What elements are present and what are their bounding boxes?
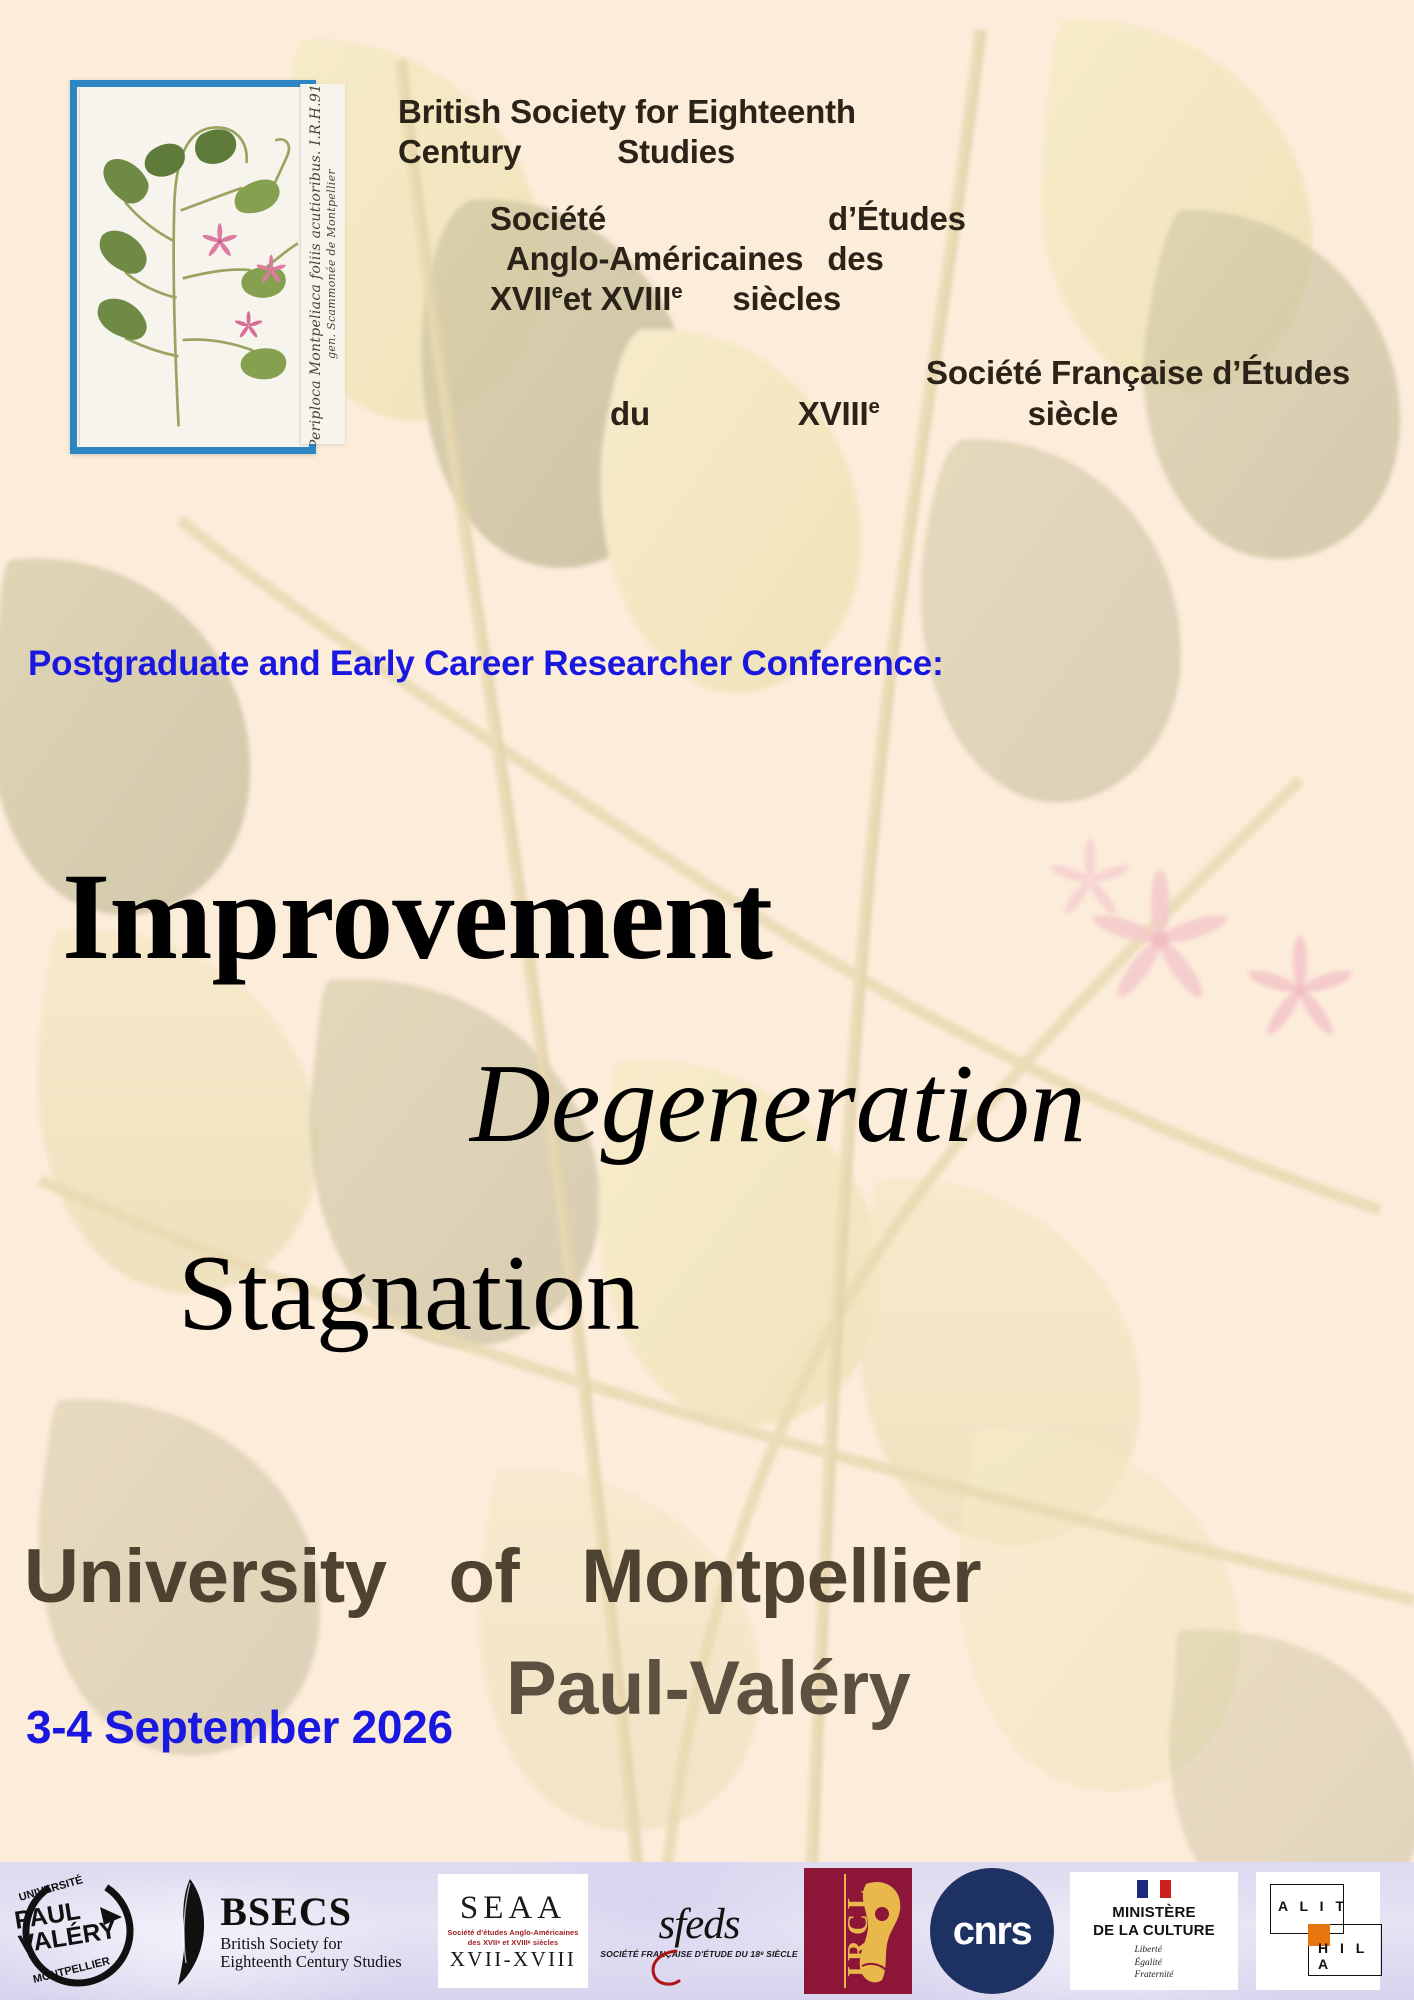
seaa-siecles: siècles [732, 279, 841, 319]
spacer-2 [398, 319, 1358, 353]
ministere-line2: DE LA CULTURE [1093, 1922, 1215, 1940]
sponsoring-societies: British Society for Eighteenth Century S… [398, 92, 1358, 434]
venue-line-2: Paul-Valéry [506, 1645, 910, 1732]
seaa-societe: Société [490, 199, 606, 239]
sfeds-swash-icon [646, 1949, 686, 1989]
sfeds-logo-word: sfeds [659, 1903, 740, 1946]
seaa-logo-red1: Société d'études Anglo-Américaines [448, 1928, 579, 1938]
sfeds-name-line1: Société Française d’Études [398, 353, 1358, 393]
venue-montpellier: Montpellier [581, 1533, 981, 1620]
seaa-anglo-americaines: Anglo-Américaines [506, 239, 803, 279]
seaa-logo-roman: XVII-XVIII [450, 1949, 577, 1970]
conference-poster: Periploca Montpeliaca foliis acutioribus… [0, 0, 1414, 2000]
ministere-devise-fraternite: Fraternité [1134, 1969, 1173, 1982]
seaa-name-line1: Société d’Études [398, 199, 1358, 239]
french-flag-icon [1137, 1880, 1171, 1898]
bsecs-logo-acronym: BSECS [220, 1890, 401, 1935]
sfeds-logo-tagline: SOCIÉTÉ FRANÇAISE D'ÉTUDE DU 18ᵉ SIÈCLE [600, 1949, 798, 1959]
conference-dates: 3-4 September 2026 [26, 1700, 453, 1754]
alit-logo-bottom: H I L A [1318, 1940, 1380, 1972]
spacer-1 [398, 173, 1358, 199]
logo-cnrs[interactable]: cnrs [930, 1868, 1054, 1994]
sfeds-siecle: siècle [1028, 394, 1119, 434]
seaa-xvii-ordinal: e [552, 280, 563, 303]
sfeds-name-line2: du XVIIIe siècle [398, 394, 1358, 434]
sfeds-du: du [610, 394, 650, 434]
bsecs-name-line2: Century Studies [398, 132, 1358, 172]
plate-caption-sub: gen. Scammonée de Montpellier [325, 84, 338, 444]
keyword-degeneration: Degeneration [470, 1040, 1086, 1169]
sfeds-century: XVIIIe [798, 394, 880, 434]
bsecs-name-line1: British Society for Eighteenth [398, 92, 1358, 132]
seaa-xviii: et XVIII [563, 280, 671, 317]
conference-subtitle: Postgraduate and Early Career Researcher… [28, 644, 944, 684]
seaa-logo-acronym: SEAA [460, 1892, 566, 1925]
keyword-improvement: Improvement [62, 846, 772, 988]
quill-feather-icon [166, 1875, 212, 1987]
seaa-centuries: XVIIeet XVIIIe [490, 279, 682, 319]
cnrs-logo-label: cnrs [930, 1868, 1054, 1994]
ministere-devise-liberte: Liberté [1134, 1944, 1173, 1957]
botanical-plate-image [70, 80, 316, 454]
bsecs-logo-sub1: British Society for [220, 1935, 401, 1953]
logo-bsecs[interactable]: BSECS British Society for Eighteenth Cen… [154, 1871, 414, 1991]
bsecs-logo-sub2: Eighteenth Century Studies [220, 1953, 401, 1971]
venue-line-1: University of Montpellier [24, 1533, 981, 1620]
seaa-logo-red2: des XVIIᵉ et XVIIIᵉ siècles [448, 1938, 579, 1948]
bsecs-studies: Studies [617, 132, 735, 172]
plate-caption-main: Periploca Montpeliaca foliis acutioribus… [308, 84, 324, 444]
seaa-name-line3: XVIIeet XVIIIe siècles [398, 279, 1358, 319]
keyword-stagnation: Stagnation [178, 1232, 640, 1356]
alit-logo-top: A L I T [1278, 1898, 1348, 1914]
venue-university: University [24, 1533, 387, 1620]
logo-seaa[interactable]: SEAA Société d'études Anglo-Américaines … [438, 1874, 588, 1988]
plate-handwritten-caption: Periploca Montpeliaca foliis acutioribus… [300, 84, 345, 444]
venue-of: of [449, 1533, 520, 1620]
seaa-detudes: d’Études [828, 199, 966, 239]
sponsor-logo-strip: UNIVERSITÉ PAUL VALÉRY MONTPELLIER BSECS… [0, 1862, 1414, 2000]
logo-universite-paul-valery[interactable]: UNIVERSITÉ PAUL VALÉRY MONTPELLIER [4, 1867, 152, 1995]
ministere-devise-egalite: Égalité [1134, 1957, 1173, 1970]
seaa-des: des [827, 239, 883, 279]
sfeds-xviii: XVIII [798, 395, 869, 432]
sfeds-xviii-ordinal: e [868, 395, 879, 418]
logo-sfeds[interactable]: sfeds SOCIÉTÉ FRANÇAISE D'ÉTUDE DU 18ᵉ S… [612, 1875, 786, 1987]
logo-alithila[interactable]: A L I T H I L A [1256, 1872, 1380, 1990]
seaa-name-line2: Anglo-Américaines des [398, 239, 1358, 279]
logo-ministere-culture[interactable]: MINISTÈRE DE LA CULTURE Liberté Égalité … [1070, 1872, 1238, 1990]
seaa-xviii-ordinal: e [671, 280, 682, 303]
bsecs-century: Century [398, 132, 521, 172]
ircl-figure-icon [848, 1874, 910, 1988]
logo-ircl[interactable]: IRCL [804, 1868, 912, 1994]
plate-illustration [77, 87, 309, 447]
ministere-line1: MINISTÈRE [1112, 1904, 1195, 1922]
seaa-xvii: XVII [490, 280, 552, 317]
